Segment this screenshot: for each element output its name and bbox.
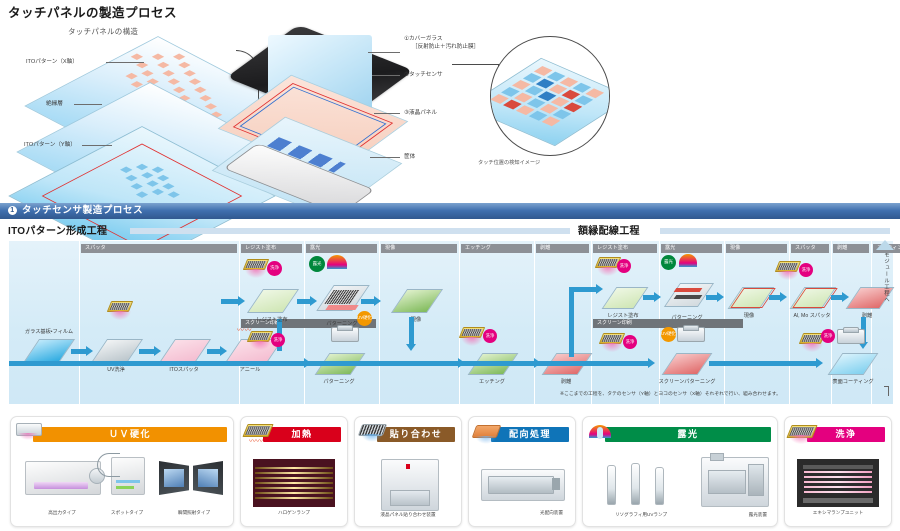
step-header-strip-2: 剥離	[833, 244, 869, 253]
node-strip: 剥離	[541, 353, 592, 385]
badge-uv-cure: UV硬化	[661, 327, 676, 342]
screen-printer-icon	[331, 327, 359, 342]
laminate-icon	[357, 421, 387, 443]
lamp-glow	[109, 311, 131, 320]
section-rule-ito	[130, 228, 570, 234]
equipment-card-row: ＵＶ硬化 高出力タイプ スポットタイプ 瞬間照射タイプ	[0, 414, 900, 531]
card-caption: ハロゲンランプ	[253, 510, 335, 516]
lithography-uv-lamps-photo	[597, 461, 685, 505]
card-alignment[interactable]: 配向処理 光配向装置	[468, 416, 576, 527]
lamp-glow	[245, 269, 267, 278]
badge-exposure: 露光	[309, 256, 325, 272]
card-title: 露光	[605, 427, 771, 442]
photo-alignment-machine	[481, 469, 565, 501]
section-heading-frame: 額縁配線工程	[578, 222, 640, 237]
card-caption: スポットタイプ	[97, 510, 157, 516]
card-caption: 液晶パネル貼り合わせ装置	[367, 512, 449, 518]
lamp-glow	[801, 343, 823, 352]
node-caption: 剥離	[540, 378, 592, 385]
node-caption: パターニング	[313, 378, 365, 385]
card-title: 貼り合わせ	[377, 427, 455, 442]
leader-line-ito-x	[106, 62, 144, 63]
node-glass-substrate: ガラス基板・フィルム	[23, 339, 67, 363]
node-screen-patterning-right: スクリーンパターニング	[661, 353, 723, 385]
card-caption: 光配向装置	[481, 510, 563, 516]
card-caption: エキシマランプユニット	[797, 510, 879, 516]
process-banner: 1タッチセンサ製造プロセス	[0, 203, 900, 219]
label-ito-x: ITOパターン（X軸）	[26, 59, 78, 67]
node-caption: エッチング	[466, 378, 518, 385]
badge-clean: 洗浄	[623, 335, 637, 349]
node-caption: 剥離	[844, 312, 890, 319]
magnifier-caption: タッチ位置の検知イメージ	[478, 159, 540, 166]
step-header-resist-coat: レジスト塗布	[241, 244, 302, 253]
uv-lamp-icon	[13, 421, 43, 443]
banner-number-badge: 1	[8, 206, 17, 215]
node-caption: レジスト塗布	[246, 316, 298, 323]
badge-clean: 洗浄	[483, 329, 497, 343]
card-heating[interactable]: 加熱 〰〰 ハロゲンランプ	[240, 416, 348, 527]
card-title: 加熱	[263, 427, 341, 442]
spot-uv-cable	[97, 453, 120, 477]
label-chassis: 筐体	[404, 154, 415, 162]
step-header-sputter-2: スパッタ	[791, 244, 829, 253]
card-cleaning[interactable]: 洗浄 エキシマランプユニット	[784, 416, 892, 527]
step-header-strip: 剥離	[536, 244, 589, 253]
coater-icon	[837, 329, 865, 344]
label-cover-glass: ①カバーガラス	[404, 36, 442, 44]
card-title: ＵＶ硬化	[33, 427, 227, 442]
badge-clean: 洗浄	[617, 259, 631, 273]
step-header-resist-coat-2: レジスト塗布	[593, 244, 657, 253]
card-title: 洗浄	[807, 427, 885, 442]
badge-clean: 洗浄	[271, 333, 285, 347]
magnified-mesh	[490, 59, 610, 145]
node-develop: 現像	[391, 289, 442, 323]
heater-icon: 〰〰	[243, 421, 273, 443]
section-rule-frame	[660, 228, 890, 234]
node-uv-clean: UV洗浄	[91, 339, 142, 373]
label-touch-sensor: ②タッチセンサ	[404, 72, 443, 80]
footnote-bracket	[884, 386, 889, 396]
node-caption: アニール	[224, 366, 276, 373]
magnified-sensor-grid	[490, 58, 610, 146]
card-caption: 高出力タイプ	[25, 510, 99, 516]
node-ito-sputter: ITOスパッタ	[159, 339, 210, 373]
node-caption: ITOスパッタ	[158, 366, 210, 373]
lamp-glow	[461, 337, 483, 346]
lamp-glow	[601, 343, 623, 352]
leader-line-chassis	[370, 157, 400, 158]
module-arrow	[876, 240, 894, 250]
step-header-exposure: 露光	[306, 244, 377, 253]
node-surface-coating: 表面コーティング	[827, 353, 887, 385]
leader-line-cover-glass	[368, 52, 400, 53]
section-heading-ito: ITOパターン形成工程	[8, 222, 107, 237]
exposure-lamp-icon	[679, 254, 697, 267]
excimer-lamp-photo	[797, 459, 879, 507]
card-caption: 露光装置	[701, 512, 767, 518]
node-caption: 現像	[390, 316, 442, 323]
badge-clean: 洗浄	[821, 329, 835, 343]
node-screen-patterning-left: パターニング	[314, 353, 365, 385]
card-uv-curing[interactable]: ＵＶ硬化 高出力タイプ スポットタイプ 瞬間照射タイプ	[10, 416, 234, 527]
badge-clean: 洗浄	[267, 261, 282, 276]
halogen-lamp-photo	[253, 459, 335, 507]
process-flow-diagram: スパッタ レジスト塗布 露光 現像 エッチング 剥離 レジスト塗布 露光 現像 …	[8, 240, 894, 405]
label-insulation: 絶縁層	[46, 101, 63, 109]
lamp-glow	[777, 271, 799, 280]
card-caption: 瞬間照射タイプ	[161, 510, 227, 516]
node-resist-coat-2: レジスト塗布	[601, 287, 646, 319]
page-root: タッチパネルの製造プロセス タッチパネルの構造	[0, 0, 900, 531]
node-caption: 表面コーティング	[819, 378, 887, 385]
node-caption: UV洗浄	[90, 366, 142, 373]
node-patterning-2: パターニング	[664, 283, 711, 321]
step-header-exposure-2: 露光	[661, 244, 722, 253]
badge-exposure: 露光	[661, 255, 676, 270]
badge-uv-cure: UV硬化	[357, 311, 372, 326]
node-caption: 現像	[726, 312, 772, 319]
banner-title: タッチセンサ製造プロセス	[22, 205, 143, 216]
leader-line-insulation	[74, 104, 102, 105]
node-etching: エッチング	[467, 353, 518, 385]
leader-line-touch-sensor	[372, 75, 400, 76]
cleaning-lamp-icon	[787, 421, 817, 443]
card-lamination[interactable]: 貼り合わせ 液晶パネル貼り合わせ装置	[354, 416, 462, 527]
touch-detection-magnifier	[490, 36, 610, 156]
step-header-etching: エッチング	[461, 244, 532, 253]
node-caption: ガラス基板・フィルム	[14, 328, 84, 335]
touch-panel-structure-diagram: ITOパターン（X軸） 絶縁層 ITOパターン（Y軸） ①カバーガラス ［反射防…	[0, 14, 900, 194]
badge-clean: 洗浄	[799, 263, 813, 277]
process-footnote: ※ここまでの工程を、タテのセンサ（Y軸）とヨコのセンサ（X軸）それぞれで行い、組…	[560, 390, 781, 397]
chassis-layer	[236, 156, 362, 202]
step-header-develop-2: 現像	[726, 244, 787, 253]
exposure-lamp-icon	[585, 421, 615, 443]
lamp-glow	[597, 267, 619, 276]
label-ito-y: ITOパターン（Y軸）	[24, 142, 76, 150]
high-power-uv-unit	[25, 461, 101, 495]
node-develop-2: 現像	[727, 287, 772, 319]
flash-unit-a	[159, 461, 189, 495]
leader-line-ito-y	[82, 145, 112, 146]
node-al-mo-sputter: Al, Mo スパッタ	[789, 287, 839, 319]
step-header-develop: 現像	[381, 244, 457, 253]
lamp-glow	[249, 341, 271, 350]
card-caption: リソグラフィ用UVランプ	[595, 512, 687, 518]
node-caption: レジスト塗布	[600, 312, 646, 319]
node-caption: スクリーンパターニング	[651, 378, 723, 385]
node-resist-coat: レジスト塗布	[247, 289, 298, 323]
card-title: 配向処理	[491, 427, 569, 442]
exposure-lamp-icon	[327, 255, 347, 269]
label-cover-glass-sub: ［反射防止＋汚れ防止膜］	[412, 44, 479, 52]
node-caption: パターニング	[663, 314, 711, 321]
node-caption: Al, Mo スパッタ	[785, 312, 839, 319]
laminator-photo	[381, 459, 439, 511]
module-process-label: モジュール工程へ	[882, 252, 890, 303]
exposure-machine-photo	[701, 457, 769, 507]
alignment-icon	[471, 421, 501, 443]
screen-printer-icon	[677, 327, 705, 342]
flash-unit-b	[193, 461, 223, 495]
label-lcd-panel: ③液晶パネル	[404, 110, 437, 118]
card-exposure[interactable]: 露光 リソグラフィ用UVランプ 露光装置	[582, 416, 778, 527]
step-header-sputter: スパッタ	[81, 244, 237, 253]
leader-line-lcd-panel	[374, 113, 400, 114]
